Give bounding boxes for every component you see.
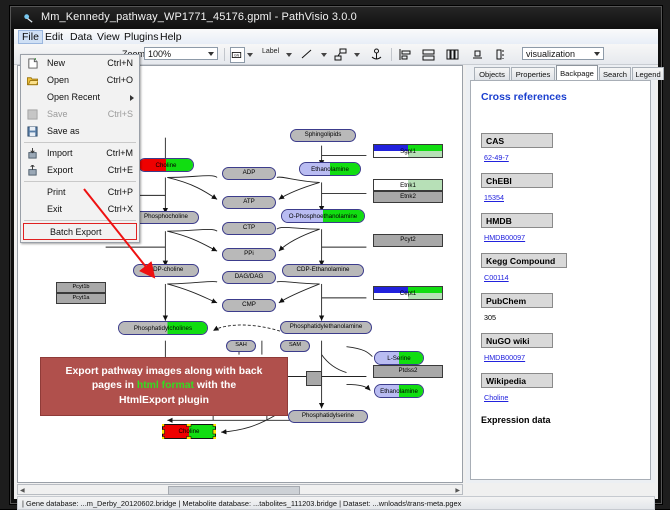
tab-search[interactable]: Search	[599, 67, 631, 80]
node-sah[interactable]: SAH	[226, 340, 256, 352]
open-folder-icon	[27, 75, 38, 86]
application-window: Mm_Kennedy_pathway_WP1771_45176.gpml - P…	[10, 6, 662, 504]
xref-source-pubchem: PubChem	[481, 293, 553, 308]
menu-bar: File Edit Data View Plugins Help	[14, 29, 658, 45]
annotation-line2-pre: pages in	[92, 380, 137, 391]
toolbar-separator	[224, 48, 225, 61]
node-choline[interactable]: Choline	[138, 158, 194, 172]
status-bar: | Gene database: ...m_Derby_20120602.bri…	[17, 496, 655, 510]
node-ppi[interactable]: PPi	[222, 248, 276, 261]
node-sphingolipids[interactable]: Sphingolipids	[290, 129, 356, 142]
status-text: | Gene database: ...m_Derby_20120602.bri…	[22, 499, 461, 508]
node-cdp-ethanolamine[interactable]: CDP-Ethanolamine	[282, 264, 364, 277]
menu-item-print-accel: Ctrl+P	[108, 184, 133, 201]
menu-item-export[interactable]: Export Ctrl+E	[21, 162, 139, 179]
node-choline-selected[interactable]: Choline	[162, 424, 216, 439]
panel-tabstrip: Objects Properties Backpage Search Legen…	[466, 65, 655, 80]
menu-item-import[interactable]: Import Ctrl+M	[21, 145, 139, 162]
shape-dropdown-arrow[interactable]	[354, 53, 360, 57]
menu-item-open-recent-label: Open Recent	[47, 92, 100, 102]
choline-selected-fill	[162, 424, 216, 439]
menu-help[interactable]: Help	[156, 30, 186, 44]
import-icon	[27, 148, 38, 159]
etnk1-fill	[374, 180, 442, 190]
xref-source-chebi: ChEBI	[481, 173, 553, 188]
stack-button[interactable]	[422, 48, 435, 61]
node-dag[interactable]: DAG/DAG	[222, 271, 276, 284]
node-etnk1[interactable]: Etnk1	[373, 179, 443, 191]
tab-properties[interactable]: Properties	[511, 67, 555, 80]
node-ethanolamine[interactable]: Ethanolamine	[299, 162, 361, 176]
pathvisio-icon	[23, 13, 34, 24]
menu-item-import-accel: Ctrl+M	[106, 145, 133, 162]
menu-item-batch-export-label: Batch Export	[50, 227, 102, 237]
expression-data-heading: Expression data	[481, 415, 551, 425]
node-sam[interactable]: SAM	[280, 340, 310, 352]
visualization-combo[interactable]: visualization	[522, 47, 604, 60]
node-chka[interactable]	[306, 371, 322, 386]
menu-separator-1	[24, 142, 136, 143]
node-ethanolamine-2[interactable]: Ethanolamine	[374, 384, 424, 398]
node-phosphatidylethanolamine[interactable]: Phosphatidylethanolamine	[280, 321, 372, 334]
cross-references-heading: Cross references	[481, 91, 567, 103]
cept1-fill	[374, 287, 442, 299]
node-l-serine[interactable]: L-Serine	[374, 351, 424, 365]
shape-button[interactable]	[334, 48, 347, 61]
right-panel: Objects Properties Backpage Search Legen…	[466, 65, 655, 483]
menu-item-new[interactable]: New Ctrl+N	[21, 55, 139, 72]
datanode-button[interactable]: GN	[230, 47, 245, 63]
backpage-content: Cross references CAS 62-49-7 ChEBI 15354…	[470, 80, 651, 480]
node-phosphatidylcholines[interactable]: Phosphatidylcholines	[118, 321, 208, 335]
node-pcyt1b[interactable]: Pcyt1b	[56, 282, 106, 293]
submenu-arrow-icon	[130, 95, 134, 101]
xref-value-wikipedia[interactable]: Choline	[484, 393, 508, 402]
node-phosphocholine[interactable]: Phosphocholine	[133, 211, 199, 224]
menu-item-print-label: Print	[47, 187, 66, 197]
client-area: File Edit Data View Plugins Help Zoom: 1…	[14, 29, 658, 499]
export-icon	[27, 165, 38, 176]
choline-fill	[139, 159, 193, 171]
annotation-line3: HtmlExport plugin	[119, 395, 209, 406]
annotation-line1: Export pathway images along with back	[66, 366, 263, 377]
node-ctp[interactable]: CTP	[222, 222, 276, 235]
hscroll-thumb[interactable]	[168, 486, 300, 495]
label-button[interactable]: Label	[262, 48, 279, 55]
screenshot-root: Mm_Kennedy_pathway_WP1771_45176.gpml - P…	[0, 0, 670, 509]
menu-item-import-label: Import	[47, 148, 73, 158]
ethanolamine-2-fill	[375, 385, 423, 397]
node-pcyt1a[interactable]: Pcyt1a	[56, 293, 106, 304]
anchor-button[interactable]	[370, 48, 383, 61]
menu-item-new-label: New	[47, 58, 65, 68]
menu-item-export-accel: Ctrl+E	[108, 162, 133, 179]
node-pcyt2[interactable]: Pcyt2	[373, 234, 443, 247]
menu-item-new-accel: Ctrl+N	[107, 55, 133, 72]
sgpl1-fill	[374, 145, 442, 157]
ethanolamine-fill	[300, 163, 360, 175]
menu-item-print[interactable]: Print Ctrl+P	[21, 184, 139, 201]
node-etnk2[interactable]: Etnk2	[373, 191, 443, 203]
visualization-value: visualization	[526, 49, 575, 59]
node-ptdss2[interactable]: Ptdss2	[373, 365, 443, 378]
xref-value-kegg[interactable]: C00114	[484, 273, 509, 282]
o-phosphoethanolamine-fill	[282, 210, 364, 222]
tab-objects[interactable]: Objects	[474, 67, 510, 80]
annotation-text: Export pathway images along with back pa…	[58, 365, 271, 409]
align-button[interactable]	[398, 48, 411, 61]
menu-item-exit[interactable]: Exit Ctrl+X	[21, 201, 139, 218]
canvas-hscrollbar[interactable]: ◀ ▶	[17, 484, 463, 495]
l-serine-fill	[375, 352, 423, 364]
save-as-icon	[27, 126, 38, 137]
save-icon	[27, 109, 38, 120]
tab-legend[interactable]: Legend	[632, 67, 664, 80]
chevron-down-icon	[208, 52, 214, 56]
xref-value-nugo[interactable]: HMDB00097	[484, 353, 525, 362]
file-menu-dropdown[interactable]: New Ctrl+N Open Ctrl+O Open Recent Save …	[20, 54, 140, 243]
menu-view[interactable]: View	[93, 30, 124, 44]
zoom-value: 100%	[148, 49, 171, 59]
menu-item-open-label: Open	[47, 75, 69, 85]
menu-item-save-as-label: Save as	[47, 126, 80, 136]
svg-text:GN: GN	[234, 54, 240, 58]
menu-file[interactable]: File	[18, 30, 43, 44]
tab-backpage[interactable]: Backpage	[556, 65, 598, 80]
scroll-left-icon[interactable]: ◀	[20, 487, 25, 494]
xref-source-kegg: Kegg Compound	[481, 253, 567, 268]
chevron-down-icon-2	[594, 52, 600, 56]
menu-edit[interactable]: Edit	[41, 30, 67, 44]
datanode-icon: GN	[231, 49, 242, 61]
menu-item-exit-label: Exit	[47, 204, 62, 214]
menu-item-save-label: Save	[47, 109, 68, 119]
annotation-line2-highlight: html format	[137, 380, 194, 391]
xref-value-pubchem: 305	[484, 313, 496, 322]
toolbar-separator-2	[391, 48, 392, 61]
annotation-callout: Export pathway images along with back pa…	[40, 357, 288, 416]
xref-value-hmdb[interactable]: HMDB00097	[484, 233, 525, 242]
node-adp[interactable]: ADP	[222, 167, 276, 180]
menu-item-open-accel: Ctrl+O	[107, 72, 133, 89]
menu-item-batch-export[interactable]: Batch Export	[23, 223, 137, 240]
node-sgpl1[interactable]: Sgpl1	[373, 144, 443, 158]
node-phosphatidylserine[interactable]: Phosphatidylserine	[288, 410, 368, 423]
menu-item-save-accel: Ctrl+S	[108, 106, 133, 123]
menu-item-export-label: Export	[47, 165, 73, 175]
annotation-line2-post: with the	[194, 380, 236, 391]
distribute-button[interactable]	[446, 48, 459, 61]
menu-item-exit-accel: Ctrl+X	[108, 201, 133, 218]
node-atp[interactable]: ATP	[222, 196, 276, 209]
node-cept1[interactable]: Cept1	[373, 286, 443, 300]
phosphatidylcholines-fill	[119, 322, 207, 334]
menu-data[interactable]: Data	[66, 30, 96, 44]
datanode-dropdown-arrow[interactable]	[247, 53, 253, 57]
menu-item-open[interactable]: Open Ctrl+O	[21, 72, 139, 89]
xref-source-hmdb: HMDB	[481, 213, 553, 228]
new-file-icon	[27, 58, 38, 69]
menu-item-save: Save Ctrl+S	[21, 106, 139, 123]
label-dropdown-arrow[interactable]	[286, 53, 292, 57]
group-button[interactable]	[471, 48, 484, 61]
node-o-phosphoethanolamine[interactable]: O-Phosphoethanolamine	[281, 209, 365, 223]
node-cdp-choline[interactable]: CDP-choline	[133, 264, 199, 277]
xref-source-cas: CAS	[481, 133, 553, 148]
line-button[interactable]	[301, 49, 313, 60]
title-bar[interactable]: Mm_Kennedy_pathway_WP1771_45176.gpml - P…	[11, 7, 661, 29]
menu-item-save-as[interactable]: Save as	[21, 123, 139, 140]
line-dropdown-arrow[interactable]	[321, 53, 327, 57]
menu-separator-2	[24, 181, 136, 182]
xref-source-wikipedia: Wikipedia	[481, 373, 553, 388]
ungroup-button[interactable]	[495, 48, 508, 61]
node-cmp[interactable]: CMP	[222, 299, 276, 312]
menu-item-open-recent[interactable]: Open Recent	[21, 89, 139, 106]
zoom-combo[interactable]: 100%	[144, 47, 218, 60]
menu-separator-3	[24, 220, 136, 221]
scroll-right-icon[interactable]: ▶	[455, 487, 460, 494]
xref-value-chebi[interactable]: 15354	[484, 193, 504, 202]
window-title: Mm_Kennedy_pathway_WP1771_45176.gpml - P…	[41, 11, 357, 23]
xref-source-nugo: NuGO wiki	[481, 333, 553, 348]
xref-value-cas[interactable]: 62-49-7	[484, 153, 509, 162]
